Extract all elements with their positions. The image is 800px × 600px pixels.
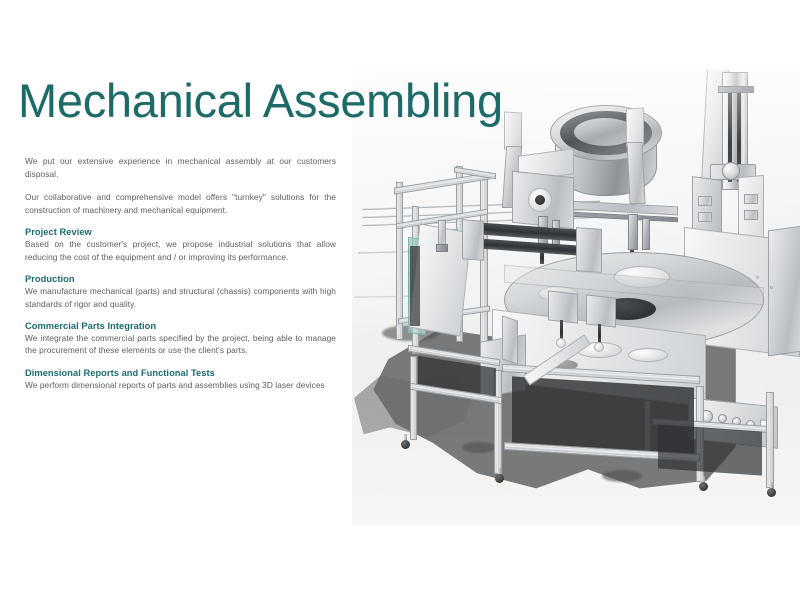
deck-highlight-2 (628, 348, 668, 362)
insert-tip-2 (594, 342, 604, 352)
foreground-slide-mount (502, 315, 518, 364)
head-unit-rotor-hub (535, 195, 545, 205)
intro-paragraph-2: Our collaborative and comprehensive mode… (25, 191, 336, 216)
section-heading-dimensional-reports: Dimensional Reports and Functional Tests (25, 368, 336, 378)
text-column: We put our extensive experience in mecha… (25, 155, 336, 401)
cabinet-bolt-b (770, 286, 773, 289)
section-heading-project-review: Project Review (25, 227, 336, 237)
cage-head-tip (436, 244, 448, 252)
caster-1 (401, 440, 410, 449)
machine-illustration (352, 70, 800, 525)
caster-2 (495, 474, 504, 483)
right-bracket-a (698, 196, 712, 206)
caster-4 (767, 488, 776, 497)
section-body-commercial-parts-integration: We integrate the commercial parts specif… (25, 332, 336, 357)
section-body-dimensional-reports: We perform dimensional reports of parts … (25, 379, 336, 391)
machine-scene (352, 70, 800, 525)
right-bracket-b (698, 212, 712, 222)
linear-axis-end-left (462, 219, 484, 261)
extrusion-post-4 (480, 176, 488, 366)
intro-paragraph-1: We put our extensive experience in mecha… (25, 155, 336, 180)
right-cabinet-side (768, 226, 800, 357)
gripper-arm-3 (628, 214, 638, 250)
insert-head-block-1 (548, 290, 578, 323)
insert-head-block-2 (586, 294, 616, 327)
caster-3 (699, 482, 708, 491)
shadow-blob-c (602, 470, 642, 482)
base-leg-far-right (766, 392, 774, 488)
extrusion-post-1 (396, 182, 403, 340)
section-body-project-review: Based on the customer's project, we prop… (25, 238, 336, 263)
section-commercial-parts-integration: Commercial Parts Integration We integrat… (25, 321, 336, 357)
right-bracket-d (744, 210, 758, 220)
linear-axis-carriage (576, 227, 602, 273)
section-body-production: We manufacture mechanical (parts) and st… (25, 285, 336, 310)
section-heading-production: Production (25, 274, 336, 284)
cage-void-left (410, 246, 420, 326)
section-production: Production We manufacture mechanical (pa… (25, 274, 336, 310)
base-interior-shadow-right (658, 424, 762, 475)
section-heading-commercial-parts-integration: Commercial Parts Integration (25, 321, 336, 331)
base-leg-rear-left (410, 356, 417, 440)
section-project-review: Project Review Based on the customer's p… (25, 227, 336, 263)
section-dimensional-reports: Dimensional Reports and Functional Tests… (25, 368, 336, 391)
slide-root: Mechanical Assembling We put our extensi… (0, 0, 800, 600)
cage-head-stem (438, 220, 446, 246)
right-bracket-c (744, 194, 758, 204)
page-title: Mechanical Assembling (18, 76, 503, 125)
shadow-blob-b (462, 442, 496, 453)
gripper-arm-4 (642, 218, 650, 250)
cabinet-bolt-a (756, 276, 759, 279)
